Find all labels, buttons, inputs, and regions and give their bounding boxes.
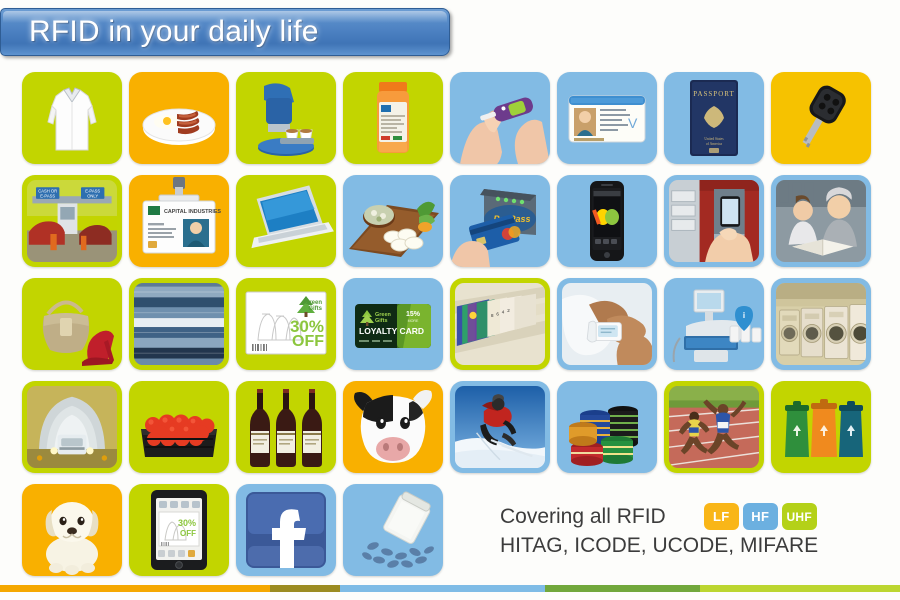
rfid-application-grid: V PASSPORT United States of America CASH…: [22, 72, 880, 576]
tile-handbag-and-red-shoe: [22, 278, 122, 370]
tile-nfc-smartphone: [557, 175, 657, 267]
facebook-social-logo-image: [236, 484, 336, 576]
bacon-and-eggs-plate-image: [129, 72, 229, 164]
covering-line: Covering all RFID LFHFUHF: [500, 503, 890, 530]
phone-at-ticket-gate-image: [669, 180, 759, 262]
prescription-pill-bottle-image: [343, 72, 443, 164]
title-banner: RFID in your daily life: [0, 8, 450, 56]
tile-alpine-skier: [450, 381, 550, 473]
svg-text:LOYALTY CARD: LOYALTY CARD: [359, 326, 424, 336]
svg-text:of America: of America: [706, 142, 722, 146]
track-runners-finish-image: [669, 386, 759, 468]
svg-text:ONLY: ONLY: [87, 194, 98, 199]
svg-text:i: i: [743, 311, 745, 320]
svg-text:PASSPORT: PASSPORT: [693, 90, 735, 98]
svg-text:OFF: OFF: [180, 529, 196, 538]
glucose-meter-finger-image: [450, 72, 550, 164]
puppy-dog-image: [22, 484, 122, 576]
badge-hf: HF: [743, 503, 778, 530]
tile-stacked-blue-jeans: [129, 278, 229, 370]
tile-self-checkout-kiosk: i: [664, 278, 764, 370]
tile-casino-gambling-chips: [557, 381, 657, 473]
recycling-waste-bins-image: [771, 381, 871, 473]
laundromat-washers-image: [776, 283, 866, 365]
svg-text:30%: 30%: [178, 518, 196, 528]
frequency-badges: LFHFUHF: [704, 503, 817, 530]
page-title: RFID in your daily life: [29, 15, 319, 49]
standards-list-text: HITAG, ICODE, UCODE, MIFARE: [500, 534, 890, 558]
tomato-produce-crate-image: [129, 381, 229, 473]
contactless-payment-terminal-image: PayPass: [450, 175, 550, 267]
tile-tomato-produce-crate: [129, 381, 229, 473]
discount-coupon-30-off-image: Green Gifts 30% OFF: [236, 278, 336, 370]
svg-text:Gifts: Gifts: [375, 318, 388, 324]
tile-sushi-meal-tray: [343, 175, 443, 267]
tile-glucose-meter-finger: [450, 72, 550, 164]
tile-pharmacy-medicine-shelf: 8642: [450, 278, 550, 370]
tile-contactless-payment-terminal: PayPass: [450, 175, 550, 267]
pharmacy-medicine-shelf-image: 8642: [455, 283, 545, 365]
slide-root: RFID in your daily life: [0, 0, 900, 600]
tile-car-key-fob: [771, 72, 871, 164]
olive-segment: [270, 585, 340, 592]
alpine-skier-image: [455, 386, 545, 468]
svg-text:United States: United States: [704, 137, 724, 141]
tablet-with-coupon-image: 30% OFF: [129, 484, 229, 576]
dairy-cow-image: [343, 381, 443, 473]
tile-bacon-and-eggs-plate: [129, 72, 229, 164]
tile-recycling-waste-bins: [771, 381, 871, 473]
tile-phone-at-ticket-gate: [664, 175, 764, 267]
us-passport-image: PASSPORT United States of America: [664, 72, 764, 164]
tile-employee-id-badge: CAPITAL INDUSTRIES: [129, 175, 229, 267]
tile-laundromat-washers: [771, 278, 871, 370]
dark-green-segment: [545, 585, 700, 592]
light-green-segment: [700, 585, 900, 592]
laptop-computer-image: [236, 175, 336, 267]
svg-text:MORE: MORE: [408, 319, 419, 323]
tile-track-runners-finish: [664, 381, 764, 473]
store-loyalty-card-image: Green Gifts LOYALTY CARD 15% MORE: [343, 278, 443, 370]
tile-facebook-social-logo: [236, 484, 336, 576]
tile-us-passport: PASSPORT United States of America: [664, 72, 764, 164]
handbag-and-red-shoe-image: [22, 278, 122, 370]
tile-store-loyalty-card: Green Gifts LOYALTY CARD 15% MORE: [343, 278, 443, 370]
footer-block: Covering all RFID LFHFUHF HITAG, ICODE, …: [500, 503, 890, 558]
svg-text:15%: 15%: [406, 311, 421, 318]
white-dress-shirt-image: [22, 72, 122, 164]
covering-all-rfid-text: Covering all RFID: [500, 505, 666, 529]
spilled-pill-bottle-image: [343, 484, 443, 576]
library-books-readers-image: [776, 180, 866, 262]
coffee-machine-image: [236, 72, 336, 164]
tile-discount-coupon-30-off: Green Gifts 30% OFF: [236, 278, 336, 370]
badge-lf: LF: [704, 503, 739, 530]
badge-uhf: UHF: [782, 503, 817, 530]
tile-wine-bottles: [236, 381, 336, 473]
tile-coffee-machine: [236, 72, 336, 164]
nfc-smartphone-image: [557, 175, 657, 267]
tile-drivers-license-card: V: [557, 72, 657, 164]
svg-text:CAPITAL INDUSTRIES: CAPITAL INDUSTRIES: [164, 209, 221, 215]
tile-prescription-pill-bottle: [343, 72, 443, 164]
svg-text:Gifts: Gifts: [308, 306, 322, 312]
sushi-meal-tray-image: [343, 175, 443, 267]
tile-tablet-with-coupon: 30% OFF: [129, 484, 229, 576]
wine-bottles-image: [236, 381, 336, 473]
self-checkout-kiosk-image: i: [664, 278, 764, 370]
ezpass-toll-booth-image: CASH ORE-PASS E-PASSONLY: [27, 180, 117, 262]
tile-white-dress-shirt: [22, 72, 122, 164]
tile-car-wash-tunnel: [22, 381, 122, 473]
tile-library-books-readers: [771, 175, 871, 267]
tile-ezpass-toll-booth: CASH ORE-PASS E-PASSONLY: [22, 175, 122, 267]
employee-id-badge-image: CAPITAL INDUSTRIES: [129, 175, 229, 267]
car-key-fob-image: [771, 72, 871, 164]
stacked-blue-jeans-image: [134, 283, 224, 365]
tile-spilled-pill-bottle: [343, 484, 443, 576]
bottom-color-strip: [0, 585, 900, 592]
drivers-license-card-image: V: [557, 72, 657, 164]
blue-segment: [340, 585, 545, 592]
tile-patient-wristband: [557, 278, 657, 370]
car-wash-tunnel-image: [27, 386, 117, 468]
tile-puppy-dog: [22, 484, 122, 576]
tile-laptop-computer: [236, 175, 336, 267]
svg-text:V: V: [628, 115, 638, 131]
casino-gambling-chips-image: [557, 381, 657, 473]
svg-text:E-PASS: E-PASS: [40, 194, 55, 199]
patient-wristband-image: [562, 283, 652, 365]
svg-text:OFF: OFF: [292, 333, 324, 350]
tile-dairy-cow: [343, 381, 443, 473]
orange-segment: [0, 585, 270, 592]
